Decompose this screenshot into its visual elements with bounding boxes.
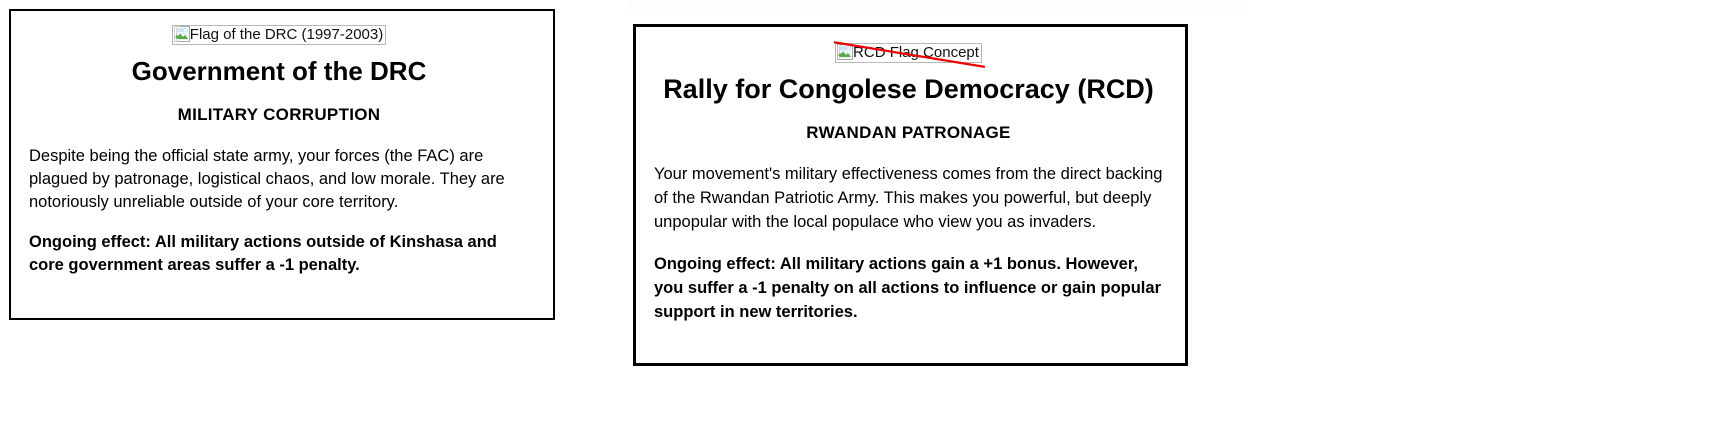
card-body-government: Despite being the official state army, y… (29, 145, 529, 213)
top-edge-band (628, 0, 1248, 12)
faction-card-rcd: RCD Flag Concept Rally for Congolese Dem… (633, 24, 1188, 366)
broken-image-placeholder-rcd[interactable]: RCD Flag Concept (835, 43, 982, 63)
card-title-government: Government of the DRC (29, 56, 529, 87)
card-body-rcd: Your movement's military effectiveness c… (654, 163, 1163, 235)
card-effect-government: Ongoing effect: All military actions out… (29, 231, 529, 277)
broken-image-alt-text: Flag of the DRC (1997-2003) (190, 26, 383, 43)
card-image-area-rcd: RCD Flag Concept (654, 43, 1163, 63)
card-subtitle-rcd: RWANDAN PATRONAGE (654, 123, 1163, 143)
broken-image-placeholder-government[interactable]: Flag of the DRC (1997-2003) (172, 25, 386, 45)
card-effect-rcd: Ongoing effect: All military actions gai… (654, 253, 1163, 325)
faction-card-government: Flag of the DRC (1997-2003) Government o… (9, 9, 555, 320)
broken-image-icon (174, 26, 190, 42)
broken-image-alt-text: RCD Flag Concept (853, 44, 979, 61)
card-image-area-government: Flag of the DRC (1997-2003) (29, 25, 529, 45)
card-title-rcd: Rally for Congolese Democracy (RCD) (654, 74, 1163, 105)
broken-image-icon (837, 44, 853, 60)
card-subtitle-government: MILITARY CORRUPTION (29, 105, 529, 125)
